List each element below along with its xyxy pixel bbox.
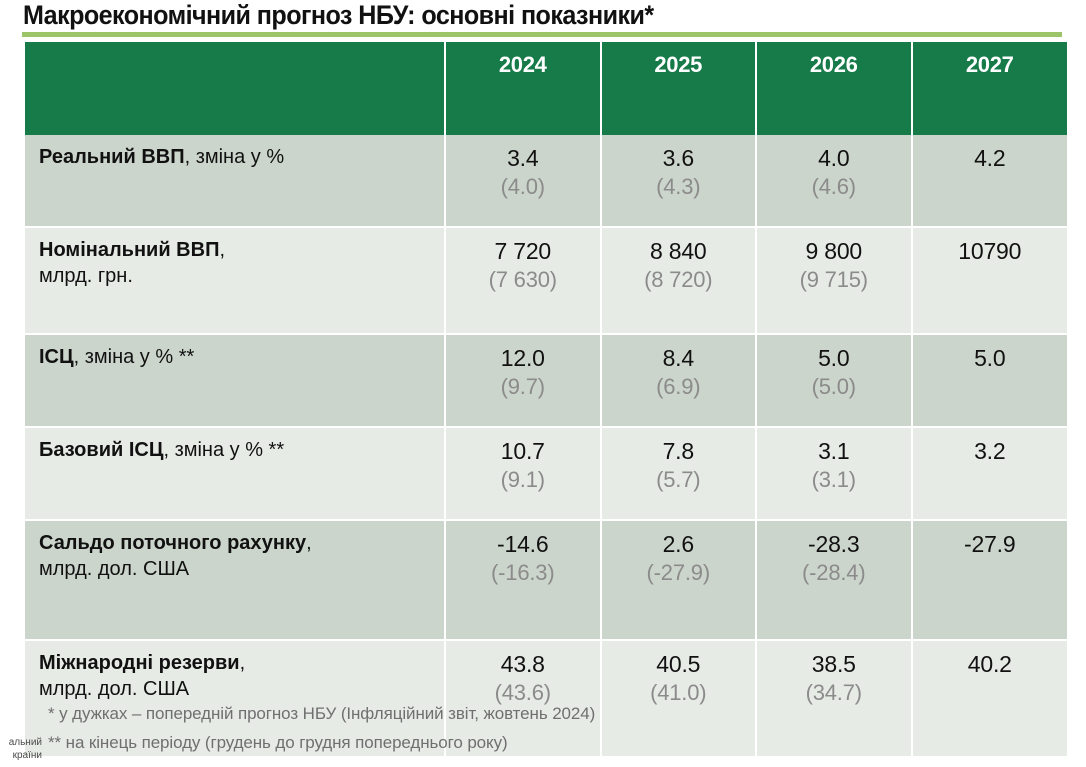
cell-value: 40.2 <box>912 640 1068 756</box>
value-current: 7.8 <box>602 437 756 465</box>
value-current: 2.6 <box>602 530 756 558</box>
row-label-strong: Сальдо поточного рахунку <box>39 532 306 554</box>
column-header-2026: 2026 <box>756 42 912 135</box>
cell-value: 12.0 (9.7) <box>445 334 601 427</box>
row-label-unit: млрд. дол. США <box>39 556 444 582</box>
cell-value: 4.0 (4.6) <box>756 135 912 227</box>
row-label-strong: Міжнародні резерви <box>39 652 240 674</box>
page-title: Макроекономічний прогноз НБУ: основні по… <box>23 0 654 31</box>
row-label-rest: , зміна у % ** <box>74 346 195 368</box>
cell-value: -28.3 (-28.4) <box>756 520 912 640</box>
table-row: Номінальний ВВП, млрд. грн. 7 720 (7 630… <box>25 227 1067 334</box>
value-previous <box>913 172 1068 201</box>
value-previous: (8 720) <box>602 265 756 294</box>
row-label-cpi: ІСЦ, зміна у % ** <box>25 334 445 427</box>
header-corner-cell <box>25 42 445 135</box>
value-previous: (34.7) <box>757 678 911 707</box>
value-previous: (-27.9) <box>602 558 756 587</box>
table-row: Реальний ВВП, зміна у % 3.4 (4.0) 3.6 (4… <box>25 135 1067 227</box>
table-row: ІСЦ, зміна у % ** 12.0 (9.7) 8.4 (6.9) 5… <box>25 334 1067 427</box>
cell-value: 40.5 (41.0) <box>601 640 757 756</box>
row-label-core-cpi: Базовий ІСЦ, зміна у % ** <box>25 427 445 520</box>
column-header-2027: 2027 <box>912 42 1068 135</box>
value-previous: (9.7) <box>446 372 600 401</box>
table-row: Базовий ІСЦ, зміна у % ** 10.7 (9.1) 7.8… <box>25 427 1067 520</box>
value-current: 7 720 <box>446 237 600 265</box>
value-previous <box>913 265 1068 294</box>
cell-value: 7.8 (5.7) <box>601 427 757 520</box>
row-label-current-account: Сальдо поточного рахунку, млрд. дол. США <box>25 520 445 640</box>
row-label-rest: , <box>306 532 312 554</box>
value-current: 10790 <box>913 237 1068 265</box>
cell-value: 10.7 (9.1) <box>445 427 601 520</box>
row-label-rest: , <box>219 239 225 261</box>
nbu-logo-caption: альний країни <box>0 736 42 762</box>
row-label-real-gdp: Реальний ВВП, зміна у % <box>25 135 445 227</box>
cell-value: 3.4 (4.0) <box>445 135 601 227</box>
cell-value: 4.2 <box>912 135 1068 227</box>
logo-caption-line-2: країни <box>0 749 42 762</box>
cell-value: -27.9 <box>912 520 1068 640</box>
value-current: 9 800 <box>757 237 911 265</box>
value-current: 10.7 <box>446 437 600 465</box>
cell-value: 3.2 <box>912 427 1068 520</box>
row-label-strong: Базовий ІСЦ <box>39 439 163 461</box>
table-row: Сальдо поточного рахунку, млрд. дол. США… <box>25 520 1067 640</box>
value-previous: (-16.3) <box>446 558 600 587</box>
value-previous <box>913 558 1068 587</box>
value-previous: (7 630) <box>446 265 600 294</box>
cell-value: 7 720 (7 630) <box>445 227 601 334</box>
cell-value: 5.0 (5.0) <box>756 334 912 427</box>
value-current: 5.0 <box>757 344 911 372</box>
value-current: -28.3 <box>757 530 911 558</box>
value-previous: (5.7) <box>602 465 756 494</box>
column-header-2025: 2025 <box>601 42 757 135</box>
cell-value: 3.1 (3.1) <box>756 427 912 520</box>
value-previous <box>913 372 1068 401</box>
table-header: 2024 2025 2026 2027 <box>25 42 1067 135</box>
value-current: 12.0 <box>446 344 600 372</box>
header-row: 2024 2025 2026 2027 <box>25 42 1067 135</box>
row-label-rest: , <box>240 652 246 674</box>
value-previous: (-28.4) <box>757 558 911 587</box>
value-previous: (4.3) <box>602 172 756 201</box>
cell-value: 5.0 <box>912 334 1068 427</box>
cell-value: 2.6 (-27.9) <box>601 520 757 640</box>
cell-value: 9 800 (9 715) <box>756 227 912 334</box>
value-current: 5.0 <box>913 344 1068 372</box>
value-previous <box>913 678 1068 707</box>
logo-caption-line-1: альний <box>0 736 42 749</box>
row-label-rest: , зміна у % ** <box>163 439 284 461</box>
row-label-nominal-gdp: Номінальний ВВП, млрд. грн. <box>25 227 445 334</box>
value-current: 4.0 <box>757 144 911 172</box>
cell-value: -14.6 (-16.3) <box>445 520 601 640</box>
value-previous: (41.0) <box>602 678 756 707</box>
cell-value: 10790 <box>912 227 1068 334</box>
value-previous: (9.1) <box>446 465 600 494</box>
footnote-2: ** на кінець періоду (грудень до грудня … <box>48 728 595 757</box>
column-header-2024: 2024 <box>445 42 601 135</box>
row-label-strong: Номінальний ВВП <box>39 239 219 261</box>
value-previous: (6.9) <box>602 372 756 401</box>
cell-value: 38.5 (34.7) <box>756 640 912 756</box>
footnote-1: * у дужках – попередній прогноз НБУ (Інф… <box>48 699 595 728</box>
value-current: 8.4 <box>602 344 756 372</box>
cell-value: 3.6 (4.3) <box>601 135 757 227</box>
value-current: 8 840 <box>602 237 756 265</box>
footnotes: * у дужках – попередній прогноз НБУ (Інф… <box>48 699 595 757</box>
forecast-table: 2024 2025 2026 2027 Реальний ВВП, зміна … <box>25 42 1067 756</box>
value-previous <box>913 465 1068 494</box>
row-label-rest: , зміна у % <box>185 146 285 168</box>
value-current: 40.5 <box>602 650 756 678</box>
value-previous: (3.1) <box>757 465 911 494</box>
cell-value: 8.4 (6.9) <box>601 334 757 427</box>
value-current: 3.4 <box>446 144 600 172</box>
value-previous: (4.0) <box>446 172 600 201</box>
value-current: 4.2 <box>913 144 1068 172</box>
value-current: 40.2 <box>913 650 1068 678</box>
value-current: 3.2 <box>913 437 1068 465</box>
value-current: 3.1 <box>757 437 911 465</box>
value-current: 38.5 <box>757 650 911 678</box>
value-current: 3.6 <box>602 144 756 172</box>
row-label-unit: млрд. грн. <box>39 263 444 289</box>
row-label-strong: Реальний ВВП <box>39 146 185 168</box>
cell-value: 8 840 (8 720) <box>601 227 757 334</box>
value-current: -14.6 <box>446 530 600 558</box>
value-previous: (4.6) <box>757 172 911 201</box>
forecast-table-container: 2024 2025 2026 2027 Реальний ВВП, зміна … <box>25 42 1067 756</box>
title-divider <box>22 32 1062 37</box>
row-label-strong: ІСЦ <box>39 346 74 368</box>
value-current: 43.8 <box>446 650 600 678</box>
value-previous: (9 715) <box>757 265 911 294</box>
table-body: Реальний ВВП, зміна у % 3.4 (4.0) 3.6 (4… <box>25 135 1067 756</box>
value-previous: (5.0) <box>757 372 911 401</box>
value-current: -27.9 <box>913 530 1068 558</box>
